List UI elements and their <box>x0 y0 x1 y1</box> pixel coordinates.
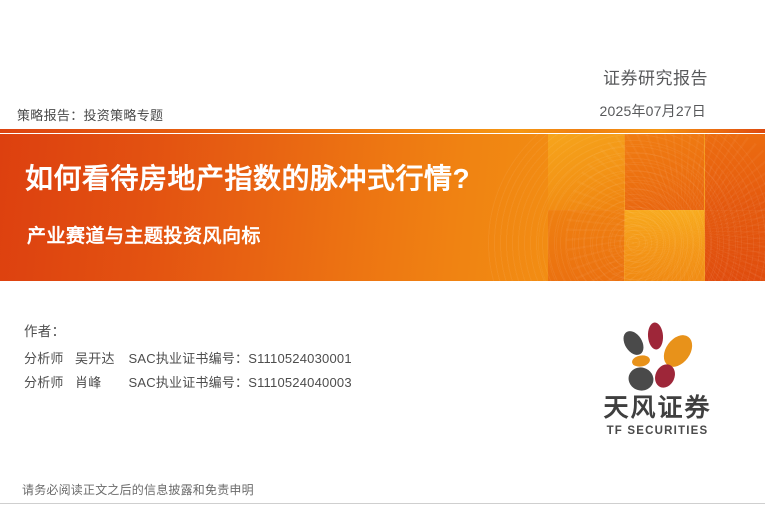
report-category-label: 策略报告：投资策略专题 <box>17 105 163 124</box>
decorative-tile <box>705 134 765 210</box>
author-name: 肖峰 <box>75 372 117 391</box>
logo-name-cn: 天风证券 <box>590 396 725 421</box>
authors-label: 作者： <box>24 320 444 340</box>
author-certificate: SAC执业证书编号：S1110524030001 <box>128 351 351 366</box>
report-subtitle: 产业赛道与主题投资风向标 <box>27 221 261 248</box>
decorative-tile <box>705 210 765 281</box>
company-logo: 天风证券 TF SECURITIES <box>590 318 725 446</box>
author-role: 分析师 <box>24 375 64 390</box>
author-role: 分析师 <box>24 351 64 366</box>
report-type-label: 证券研究报告 <box>603 64 708 89</box>
accent-strip <box>0 129 765 133</box>
report-cover-page: 证券研究报告 2025年07月27日 策略报告：投资策略专题 如何看待房地 <box>0 0 765 510</box>
author-name: 吴开达 <box>75 348 117 367</box>
decorative-tile <box>548 134 624 210</box>
title-banner: 如何看待房地产指数的脉冲式行情? 产业赛道与主题投资风向标 <box>0 134 765 281</box>
petal-flower-icon <box>612 318 704 394</box>
logo-name-en: TF SECURITIES <box>590 426 725 438</box>
author-entry: 分析师 吴开达 SAC执业证书编号：S1110524030001 <box>24 348 444 367</box>
footer-disclaimer: 请务必阅读正文之后的信息披露和免责申明 <box>22 481 254 498</box>
author-entry: 分析师 肖峰 SAC执业证书编号：S1110524040003 <box>24 372 444 391</box>
authors-block: 作者： 分析师 吴开达 SAC执业证书编号：S1110524030001 分析师… <box>24 320 444 396</box>
report-title: 如何看待房地产指数的脉冲式行情? <box>25 157 470 197</box>
page-header: 证券研究报告 2025年07月27日 策略报告：投资策略专题 <box>0 0 765 128</box>
decorative-tile <box>625 134 704 210</box>
decorative-tile <box>548 210 624 281</box>
decorative-tile-grid <box>548 134 765 281</box>
decorative-tile <box>625 210 704 281</box>
footer-divider <box>0 503 765 504</box>
report-date: 2025年07月27日 <box>600 101 707 121</box>
author-certificate: SAC执业证书编号：S1110524040003 <box>128 375 351 390</box>
